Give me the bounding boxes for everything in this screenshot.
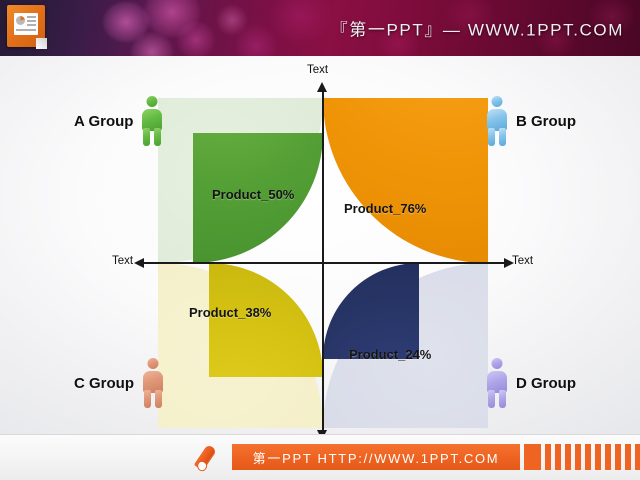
- footer-bar-segment: [545, 444, 551, 470]
- footer-bar-segment: [635, 444, 640, 470]
- footer-bar-segment: [605, 444, 611, 470]
- footer-bar-segment: [585, 444, 591, 470]
- footer-bar-segment: [575, 444, 581, 470]
- footer-bar-decoration: [524, 444, 640, 470]
- footer-bar-segment: [595, 444, 601, 470]
- product-label-top-left: Product_50%: [212, 187, 294, 202]
- footer-bar-segment: [615, 444, 621, 470]
- person-icon-blue: [484, 96, 510, 146]
- horizontal-axis: [140, 262, 508, 264]
- slide-canvas: Text Text Text Product_50% Product_76% P…: [0, 56, 640, 434]
- person-icon-salmon: [140, 358, 166, 408]
- product-label-bottom-left: Product_38%: [189, 305, 271, 320]
- product-label-bottom-right: Product_24%: [349, 347, 431, 362]
- footer-bar-segment: [555, 444, 561, 470]
- product-label-top-right: Product_76%: [344, 201, 426, 216]
- axis-label-left: Text: [112, 255, 133, 267]
- arrow-up-icon: [317, 82, 327, 92]
- group-callout-a[interactable]: A Group: [74, 96, 165, 146]
- footer-bar-segment: [565, 444, 571, 470]
- arrow-left-icon: [134, 258, 144, 268]
- group-label-a: A Group: [74, 113, 133, 130]
- pen-marker-icon: [196, 444, 224, 472]
- quadrant-inner-bottom-left[interactable]: [209, 263, 323, 377]
- footer-banner-text: 第一PPT HTTP://WWW.1PPT.COM: [253, 448, 500, 467]
- footer-banner[interactable]: 第一PPT HTTP://WWW.1PPT.COM: [232, 444, 520, 470]
- footer-bar: 第一PPT HTTP://WWW.1PPT.COM: [0, 434, 640, 480]
- powerpoint-logo-icon: [7, 5, 47, 49]
- group-callout-d[interactable]: D Group: [484, 358, 576, 408]
- person-icon-green: [139, 96, 165, 146]
- axis-label-right: Text: [512, 255, 533, 267]
- group-label-d: D Group: [516, 375, 576, 392]
- header-banner: 『第一PPT』— WWW.1PPT.COM: [0, 0, 640, 56]
- group-callout-b[interactable]: B Group: [484, 96, 576, 146]
- footer-bar-segment: [625, 444, 631, 470]
- header-title: 『第一PPT』— WWW.1PPT.COM: [331, 16, 624, 41]
- axis-label-top: Text: [307, 64, 328, 76]
- quadrant-inner-top-right[interactable]: [323, 98, 488, 263]
- group-label-c: C Group: [74, 375, 134, 392]
- group-callout-c[interactable]: C Group: [74, 358, 166, 408]
- quadrant-inner-bottom-right[interactable]: [323, 263, 419, 359]
- person-icon-purple: [484, 358, 510, 408]
- footer-bar-segment: [524, 444, 541, 470]
- group-label-b: B Group: [516, 113, 576, 130]
- footer-divider: [0, 434, 640, 435]
